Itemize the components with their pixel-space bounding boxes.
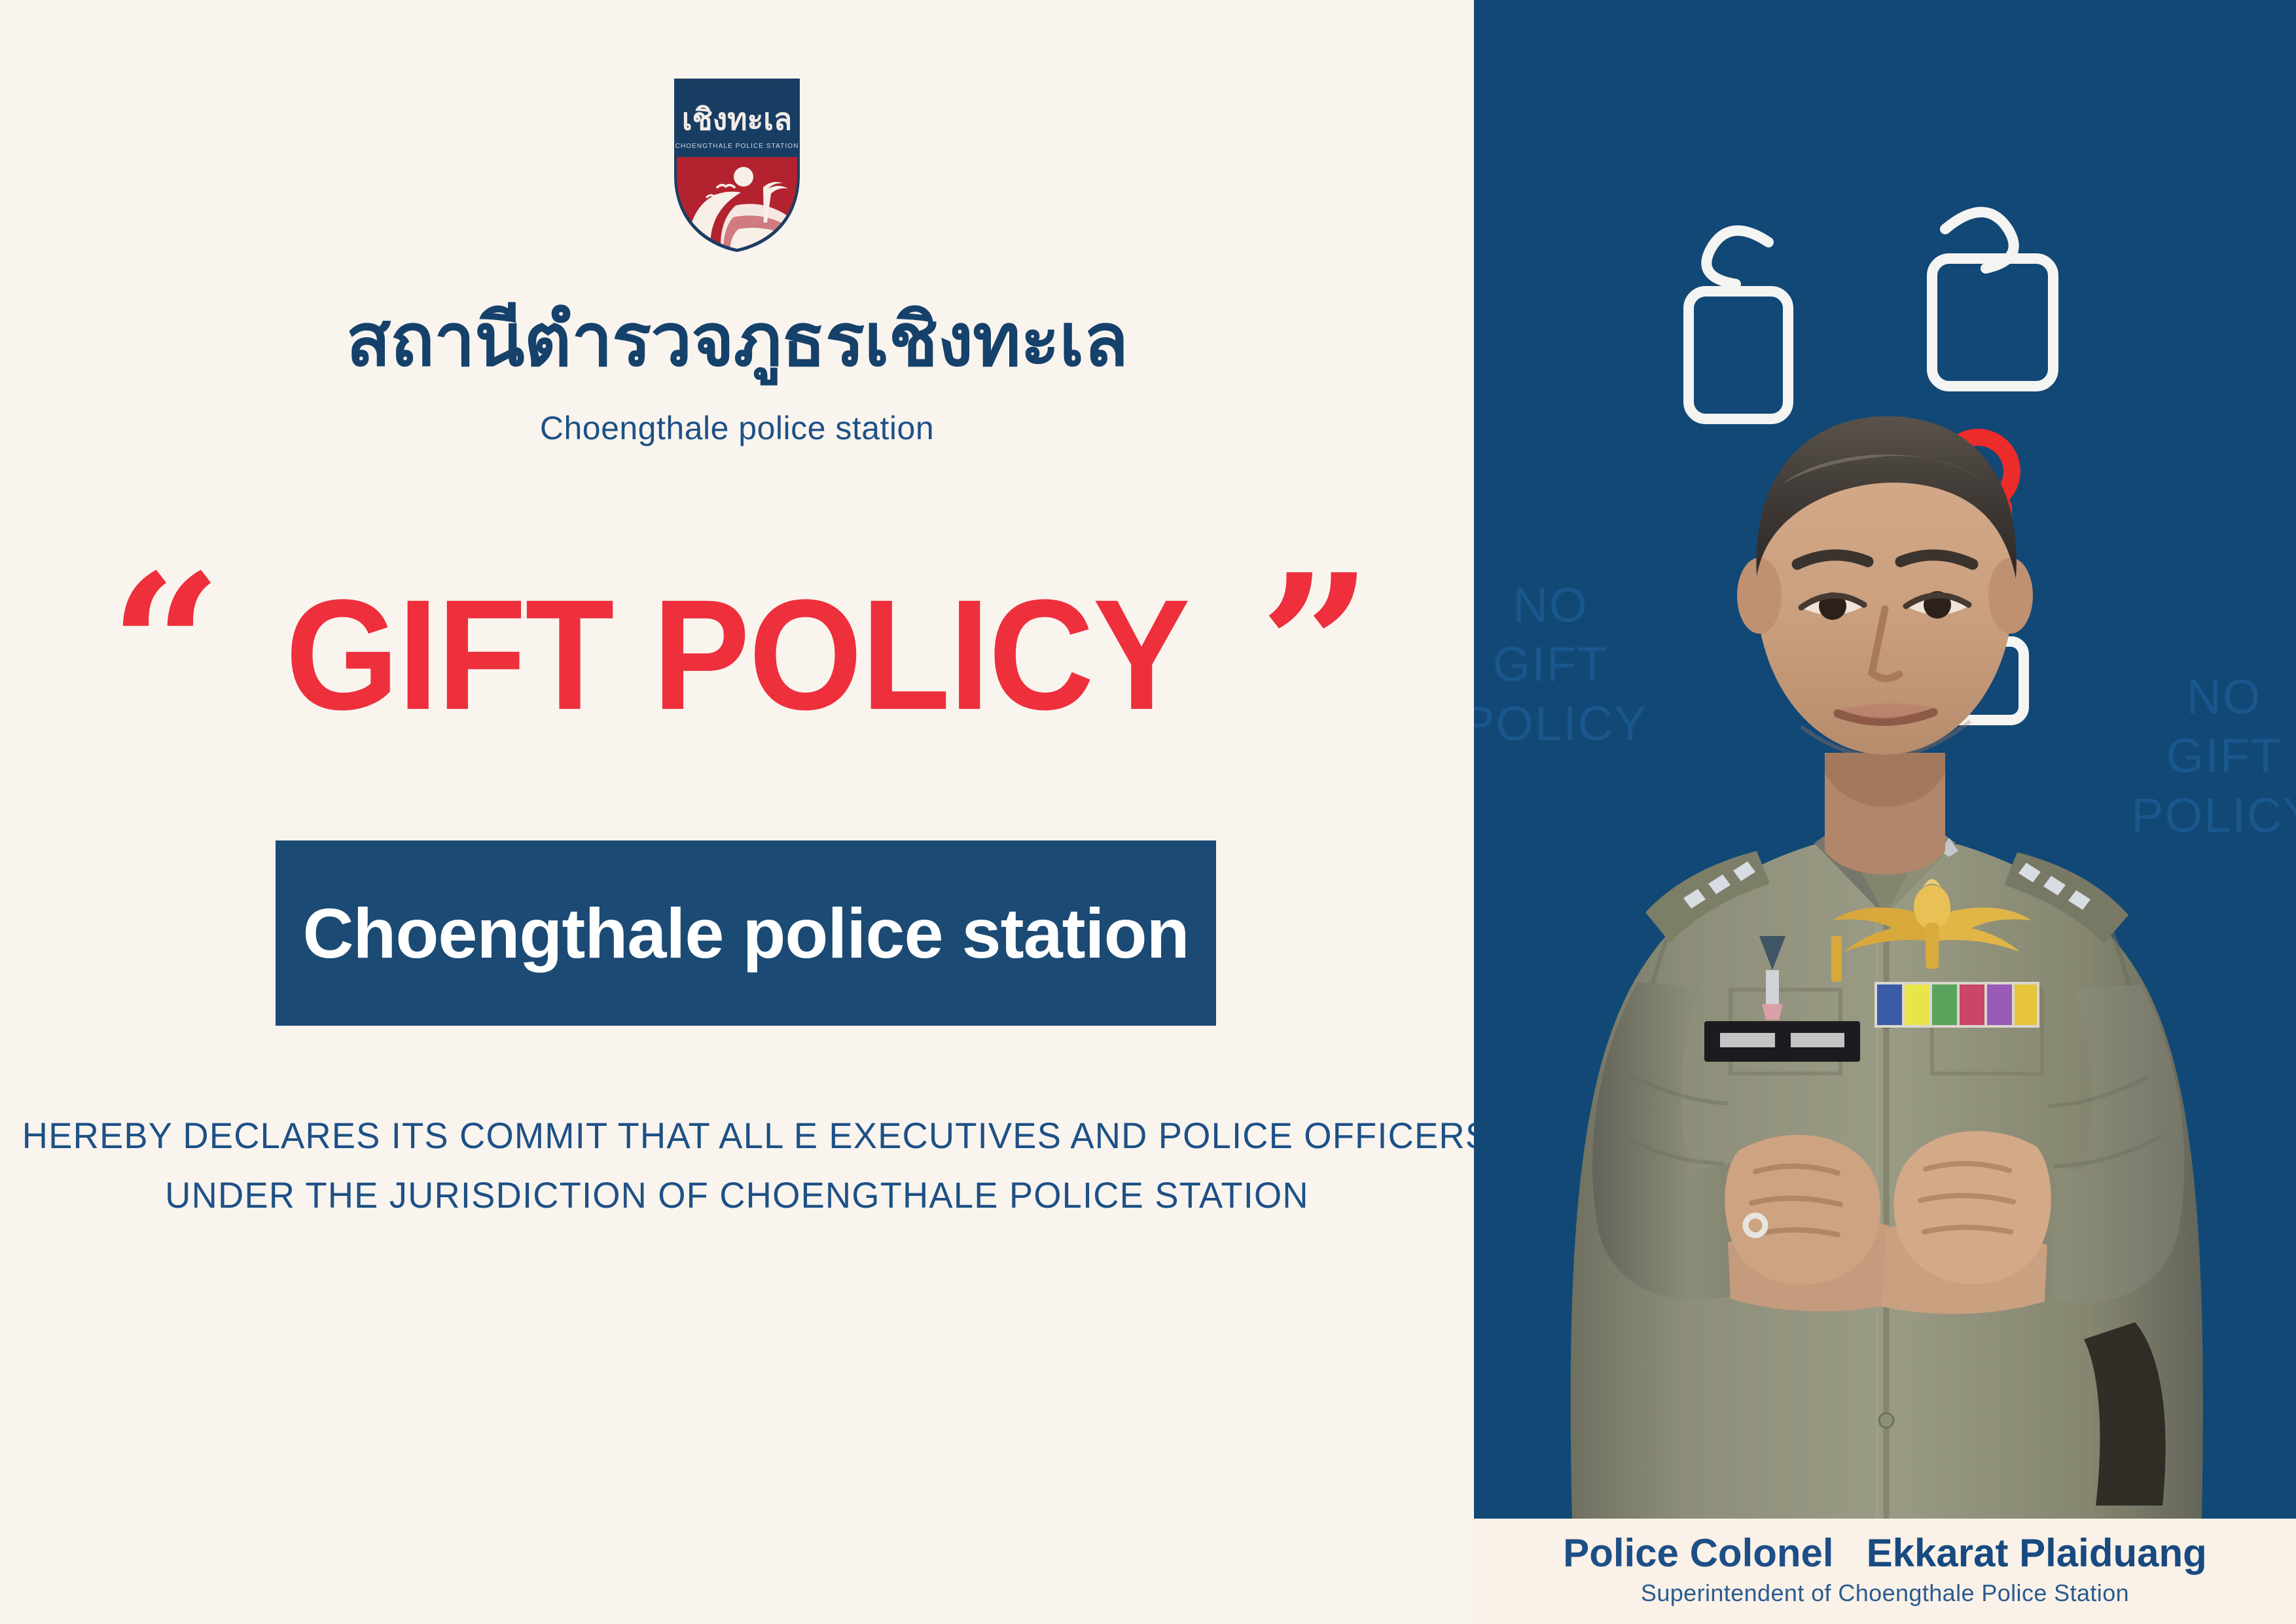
station-banner: Choengthale police station bbox=[276, 840, 1216, 1026]
left-content-panel: CHOENGTHALE POLICE STATION เชิงทะเล สถาน… bbox=[0, 0, 1474, 1624]
officer-title: Superintendent of Choengthale Police Sta… bbox=[1641, 1579, 2129, 1607]
right-portrait-panel: NO GIFT POLICY NO GIFT POLICY bbox=[1474, 0, 2296, 1624]
emblem-container: CHOENGTHALE POLICE STATION เชิงทะเล bbox=[0, 77, 1474, 253]
portrait-caption: Police Colonel Ekkarat Plaiduang Superin… bbox=[1474, 1519, 2296, 1624]
station-name-english: Choengthale police station bbox=[0, 409, 1474, 447]
avatar bbox=[1474, 0, 2296, 1519]
svg-text:CHOENGTHALE POLICE STATION: CHOENGTHALE POLICE STATION bbox=[675, 143, 799, 150]
station-banner-label: Choengthale police station bbox=[302, 892, 1189, 974]
declaration-line-2: UNDER THE JURISDICTION OF CHOENGTHALE PO… bbox=[22, 1166, 1452, 1225]
page-title: GIFT POLICY bbox=[285, 576, 1189, 733]
declaration-text: HEREBY DECLARES ITS COMMIT THAT ALL E EX… bbox=[22, 1106, 1452, 1225]
quote-close-icon: ” bbox=[1259, 576, 1365, 717]
declaration-line-1: HEREBY DECLARES ITS COMMIT THAT ALL E EX… bbox=[22, 1106, 1452, 1166]
station-name-thai: สถานีตำรวจภูธรเชิงทะเล bbox=[0, 302, 1474, 380]
officer-name-line: Police Colonel Ekkarat Plaiduang bbox=[1563, 1530, 2207, 1576]
quote-open-icon: “ bbox=[109, 576, 215, 717]
portrait-stage: NO GIFT POLICY NO GIFT POLICY bbox=[1474, 0, 2296, 1519]
gift-policy-poster: CHOENGTHALE POLICE STATION เชิงทะเล สถาน… bbox=[0, 0, 2296, 1624]
headline-container: “ GIFT POLICY ” bbox=[0, 576, 1474, 733]
svg-text:เชิงทะเล: เชิงทะเล bbox=[682, 101, 792, 137]
officer-name: Ekkarat Plaiduang bbox=[1867, 1531, 2207, 1575]
officer-rank: Police Colonel bbox=[1563, 1531, 1833, 1575]
police-shield-icon: CHOENGTHALE POLICE STATION เชิงทะเล bbox=[673, 77, 801, 253]
